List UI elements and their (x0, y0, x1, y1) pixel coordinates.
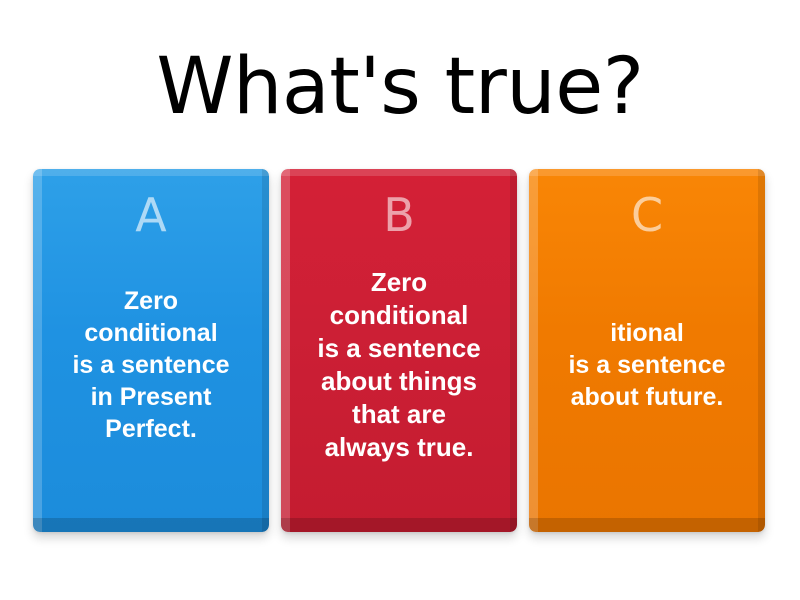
quiz-stage: What's true? A Zero conditional is a sen… (0, 0, 800, 600)
answer-card-a[interactable]: A Zero conditional is a sentence in Pres… (33, 169, 269, 532)
answer-letter-b: B (383, 189, 415, 241)
card-content: C itional is a sentence about future. (529, 169, 765, 532)
answer-text-c: itional is a sentence about future. (568, 317, 725, 413)
answer-letter-c: C (631, 189, 663, 241)
answer-options-row: A Zero conditional is a sentence in Pres… (0, 169, 800, 534)
answer-card-c[interactable]: C itional is a sentence about future. (529, 169, 765, 532)
answer-text-wrap: itional is a sentence about future. (541, 241, 753, 532)
page-title: What's true? (0, 44, 800, 130)
answer-card-b[interactable]: B Zero conditional is a sentence about t… (281, 169, 517, 532)
answer-letter-a: A (135, 189, 166, 241)
card-content: B Zero conditional is a sentence about t… (281, 169, 517, 532)
answer-text-b: Zero conditional is a sentence about thi… (317, 266, 480, 464)
answer-text-wrap: Zero conditional is a sentence in Presen… (45, 241, 257, 532)
answer-text-wrap: Zero conditional is a sentence about thi… (293, 241, 505, 532)
card-content: A Zero conditional is a sentence in Pres… (33, 169, 269, 532)
answer-text-a: Zero conditional is a sentence in Presen… (72, 285, 229, 445)
